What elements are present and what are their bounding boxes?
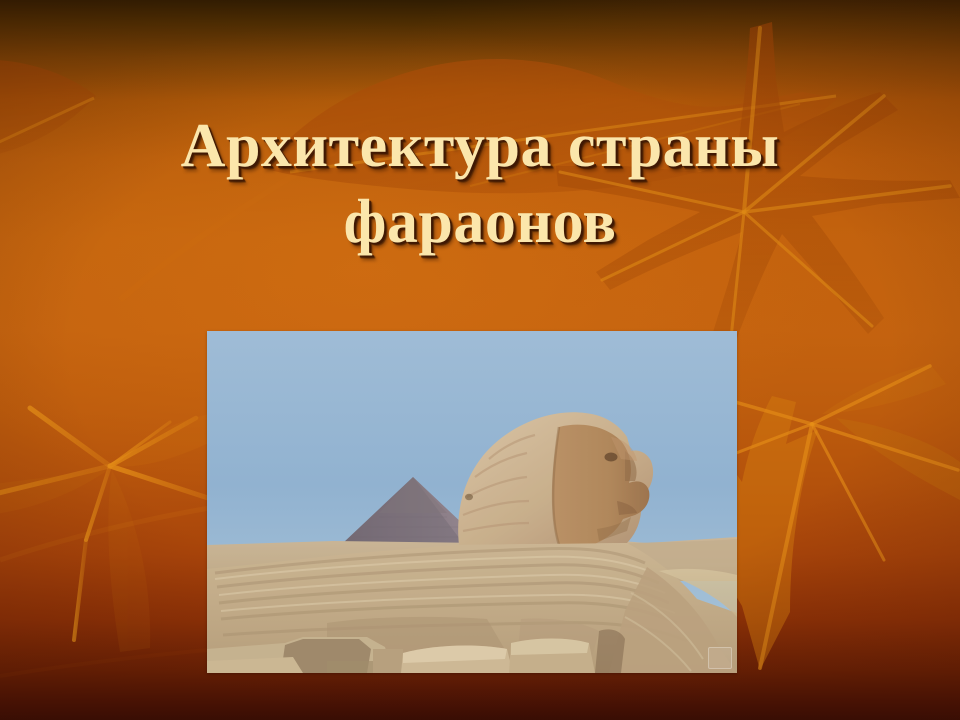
slide-canvas: Архитектура страны фараонов (0, 0, 960, 720)
photo-artwork (207, 331, 737, 673)
title-line-2: фараонов (0, 184, 960, 260)
photo-watermark-icon (708, 647, 732, 669)
page-title: Архитектура страны фараонов (0, 108, 960, 260)
title-line-1: Архитектура страны (0, 108, 960, 184)
sphinx-pyramid-photo (207, 331, 737, 673)
